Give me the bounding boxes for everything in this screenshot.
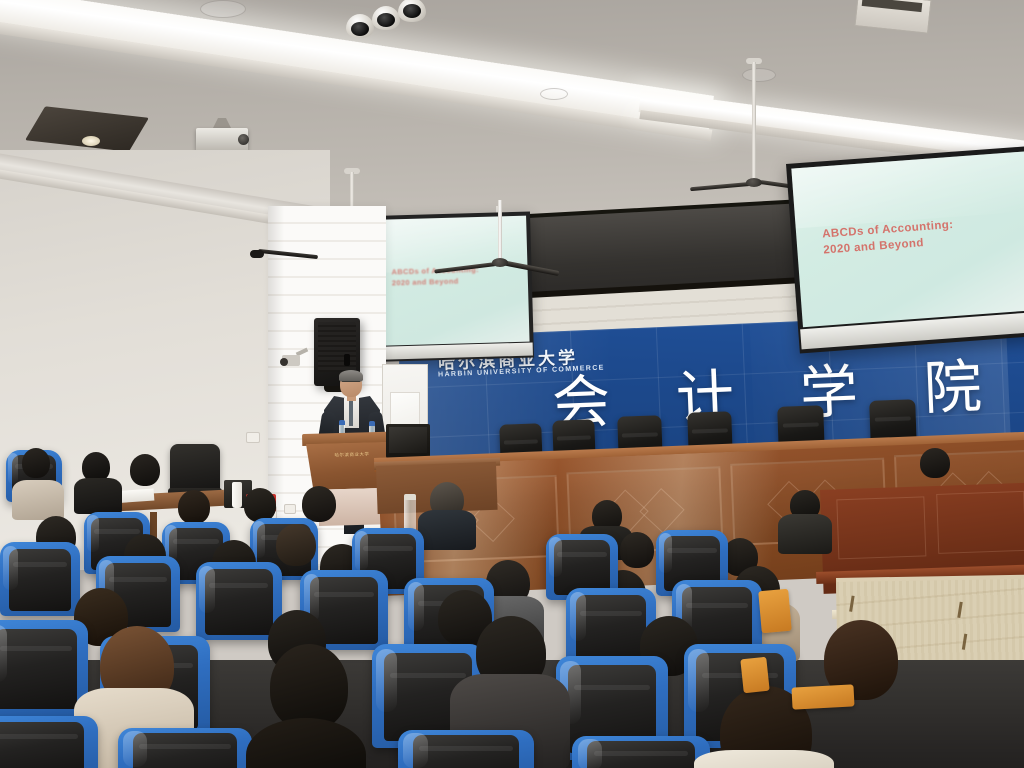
attendee-body — [12, 480, 64, 520]
seat-tablet-arm[interactable] — [791, 684, 854, 709]
seat-highlight — [549, 537, 562, 577]
seat-highlight — [688, 649, 708, 711]
lecture-hall-photo: 哈尔滨商业大学 HARBIN UNIVERSITY OF COMMERCE 会 … — [0, 0, 1024, 768]
seat-cushion — [587, 741, 695, 768]
auditorium-seat[interactable] — [0, 542, 80, 616]
seat-highlight — [8, 453, 18, 484]
dome-security-camera-icon — [372, 6, 400, 30]
camera-lens-icon — [377, 13, 395, 27]
ceiling-vent — [200, 0, 246, 18]
attendee-head — [22, 448, 50, 478]
attendee-body — [418, 510, 476, 550]
attendee-body — [74, 478, 122, 514]
water-bottle-cap — [339, 420, 345, 425]
attendee-head — [130, 454, 160, 486]
dome-security-camera-icon — [346, 14, 374, 38]
water-bottle-cap — [369, 421, 375, 426]
projection-screen-left-surface: ABCDs of Accounting: 2020 and Beyond — [374, 216, 529, 346]
seat-cushion — [0, 629, 77, 710]
attendee-head — [620, 532, 654, 568]
seat-highlight — [403, 733, 427, 768]
auditorium-seat[interactable] — [118, 728, 252, 768]
wall-camera-lens-icon — [280, 358, 288, 366]
seat-highlight — [87, 515, 99, 552]
seat-highlight — [253, 521, 265, 558]
projection-screen-right: ABCDs of Accounting: 2020 and Beyond — [786, 146, 1024, 354]
seat-highlight — [578, 739, 603, 768]
pa-speaker-grill — [318, 322, 356, 372]
speaker-glasses-icon — [342, 381, 360, 386]
projection-screen-left: ABCDs of Accounting: 2020 and Beyond — [370, 212, 534, 362]
attendee-head — [276, 524, 316, 566]
attendee-body — [694, 750, 834, 768]
ceiling-speaker — [742, 68, 776, 82]
ceiling-fan-hub — [746, 178, 762, 187]
camera-lens-icon — [351, 22, 369, 36]
dome-security-camera-icon — [398, 0, 426, 22]
attendee-head — [244, 488, 276, 522]
auditorium-seat[interactable] — [0, 620, 88, 716]
fan-drop-rod — [498, 200, 502, 262]
attendee-head — [246, 718, 366, 768]
attendee-body — [778, 514, 832, 554]
dept-char-4: 院 — [923, 357, 983, 417]
seat-highlight — [3, 546, 17, 590]
ceiling-fan-hub — [492, 258, 508, 267]
attendee-head — [920, 448, 950, 478]
recessed-lamp-icon — [82, 136, 100, 146]
seat-cushion — [133, 733, 238, 768]
seat-cushion — [576, 595, 646, 664]
seat-tablet-arm[interactable] — [740, 657, 769, 694]
seat-highlight — [659, 533, 672, 573]
pa-speaker-port — [344, 354, 350, 366]
seat-highlight — [570, 592, 586, 641]
seat-tablet-arm[interactable] — [758, 589, 792, 633]
seat-cushion — [413, 735, 519, 768]
seat-highlight — [376, 649, 396, 711]
seat-highlight — [123, 731, 147, 767]
auditorium-seat[interactable] — [0, 716, 98, 768]
microphone-icon — [250, 250, 264, 258]
seat-highlight — [199, 566, 214, 613]
projector-lens-icon — [238, 134, 249, 145]
seat-cushion — [205, 569, 272, 635]
seat-highlight — [0, 625, 7, 683]
seat-cushion — [0, 722, 84, 768]
attendee-head — [302, 486, 336, 522]
seat-highlight — [408, 582, 424, 631]
auditorium-seat[interactable] — [572, 736, 710, 768]
audience-seating-area — [0, 430, 1024, 768]
seat-cushion — [9, 549, 71, 611]
auditorium-seat[interactable] — [398, 730, 534, 768]
ceiling-speaker — [540, 88, 568, 100]
auditorium-seat[interactable] — [196, 562, 282, 640]
projection-screen-right-surface: ABCDs of Accounting: 2020 and Beyond — [791, 151, 1024, 327]
fan-drop-rod — [752, 62, 756, 182]
screen-glare — [791, 151, 1024, 229]
camera-lens-icon — [403, 4, 421, 18]
seat-highlight — [355, 531, 368, 571]
speaker-tie — [349, 400, 353, 426]
attendee-head — [178, 490, 210, 524]
